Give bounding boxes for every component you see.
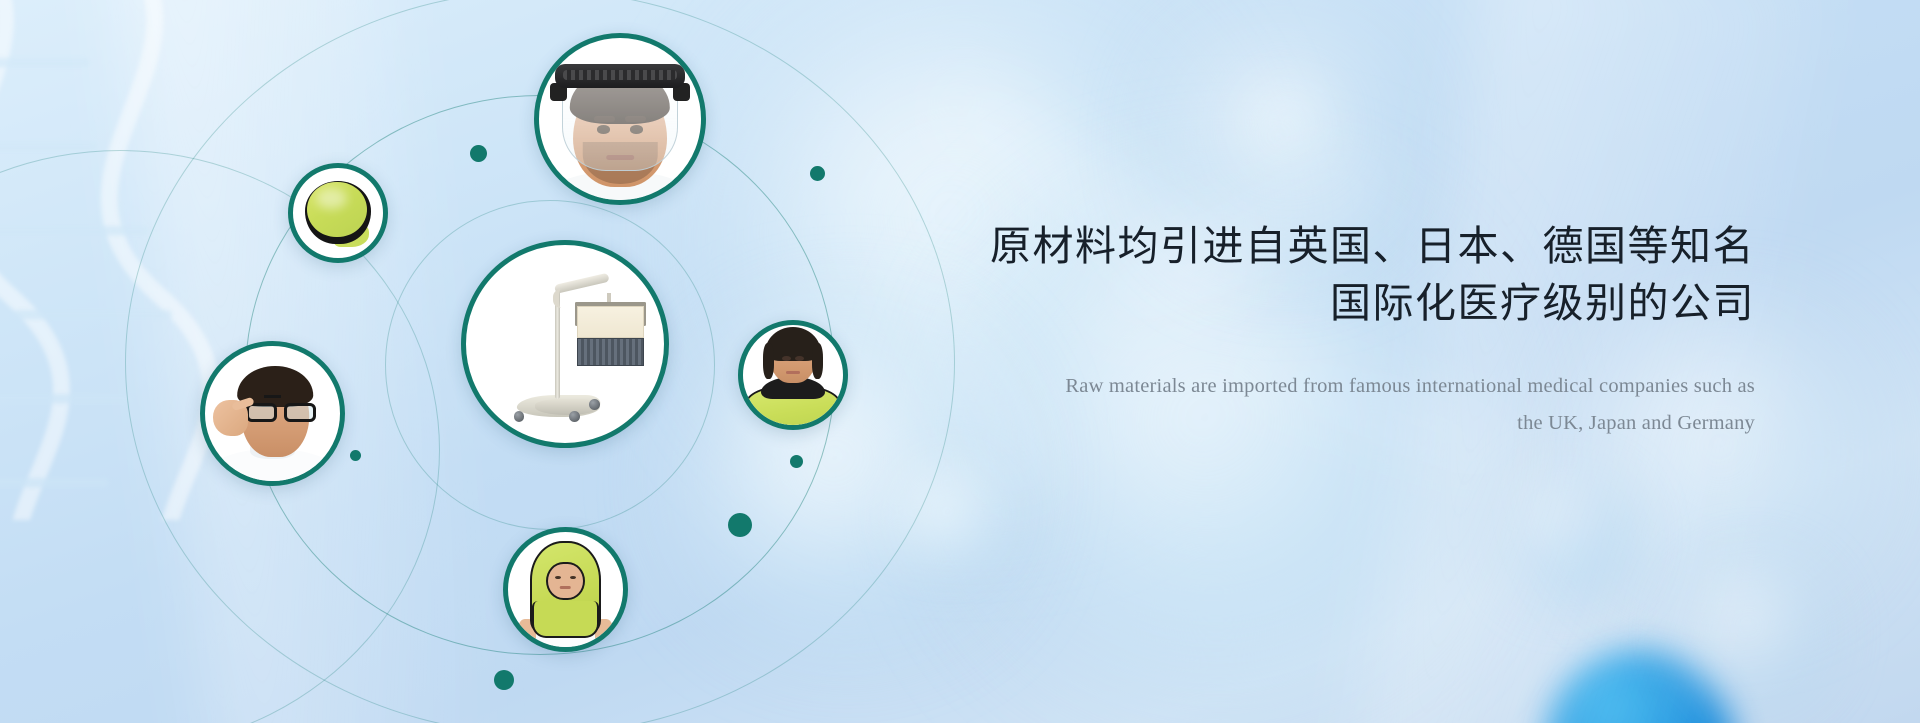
node-dot-6	[494, 670, 514, 690]
subtitle-line-2: the UK, Japan and Germany	[965, 405, 1755, 442]
node-dot-3	[350, 450, 361, 461]
subtitle: Raw materials are imported from famous i…	[965, 368, 1755, 442]
mobile-xray-protective-barrier-photo	[466, 245, 664, 443]
bubble-thyroid-collar-woman[interactable]	[738, 320, 848, 430]
lead-protective-hood-photo	[508, 532, 623, 647]
banner-copy: 原材料均引进自英国、日本、德国等知名 国际化医疗级别的公司 Raw materi…	[965, 218, 1755, 442]
bubble-lead-hood-woman[interactable]	[503, 527, 628, 652]
node-dot-2	[810, 166, 825, 181]
headline-line-2: 国际化医疗级别的公司	[965, 275, 1755, 332]
lead-apron-collar-photo	[743, 325, 843, 425]
hero-banner: 原材料均引进自英国、日本、德国等知名 国际化医疗级别的公司 Raw materi…	[0, 0, 1920, 723]
node-dot-1	[470, 145, 487, 162]
bubble-lead-glasses-man[interactable]	[200, 341, 345, 486]
radiation-face-shield-photo	[539, 38, 701, 200]
subtitle-line-1: Raw materials are imported from famous i…	[965, 368, 1755, 405]
lead-protective-glasses-photo	[205, 346, 340, 481]
bubble-lead-cap[interactable]	[288, 163, 388, 263]
lead-protective-cap-photo	[293, 168, 383, 258]
node-dot-5	[728, 513, 752, 537]
node-dot-4	[790, 455, 803, 468]
bubble-xray-shield-stand[interactable]	[461, 240, 669, 448]
headline-line-1: 原材料均引进自英国、日本、德国等知名	[965, 218, 1755, 275]
bubble-face-shield-man[interactable]	[534, 33, 706, 205]
